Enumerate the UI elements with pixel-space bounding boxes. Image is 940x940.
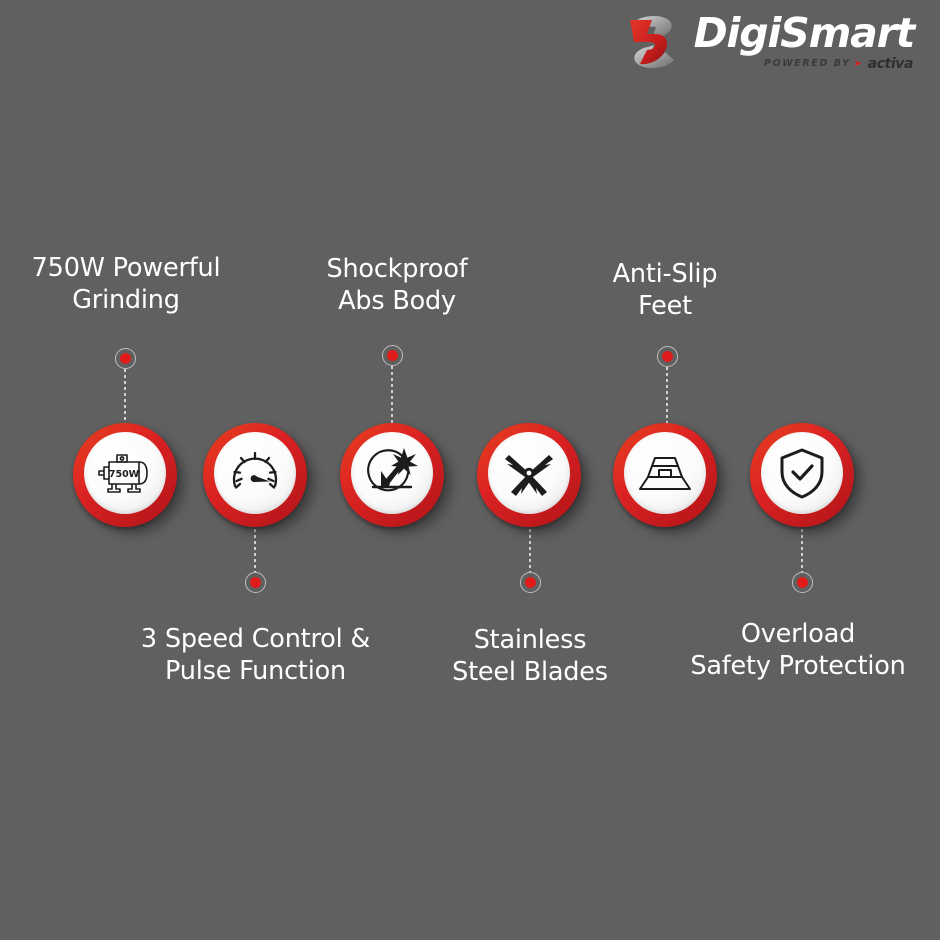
connector-dot-power: [115, 348, 136, 369]
connector-dot-shockproof: [382, 345, 403, 366]
badge-disc: [624, 432, 706, 514]
mixer-blade-icon: [501, 447, 557, 499]
electric-motor-icon: 750W: [95, 450, 155, 496]
feature-badge-blades[interactable]: [477, 423, 581, 527]
feature-label-overload: Overload Safety Protection: [667, 618, 929, 682]
logo-tagline: POWERED BY activa: [764, 57, 913, 71]
badge-disc: [214, 432, 296, 514]
anti-slip-foot-icon: [636, 452, 694, 494]
connector-dot-overload: [792, 572, 813, 593]
activa-arrow-mark: [854, 58, 865, 69]
connector-line-feet: [666, 367, 668, 426]
connector-dot-speed: [245, 572, 266, 593]
feature-label-blades: Stainless Steel Blades: [420, 624, 640, 688]
connector-dot-blades: [520, 572, 541, 593]
powered-by-text: POWERED BY: [764, 59, 851, 69]
speedometer-icon: [228, 448, 282, 498]
impact-resistant-icon: [364, 446, 420, 500]
logo-text-block: DigiSmart POWERED BY activa: [694, 13, 914, 70]
feature-badge-speed[interactable]: [203, 423, 307, 527]
feature-badge-feet[interactable]: [613, 423, 717, 527]
infographic-canvas: DigiSmart POWERED BY activa 750W Powerfu…: [0, 0, 940, 940]
feature-label-speed: 3 Speed Control & Pulse Function: [128, 623, 383, 687]
connector-line-power: [124, 369, 126, 430]
motor-power-text: 750W: [109, 469, 140, 480]
connector-dot-feet: [657, 346, 678, 367]
badge-disc: [488, 432, 570, 514]
feature-badge-shockproof[interactable]: [340, 423, 444, 527]
logo-wordmark: DigiSmart: [694, 13, 914, 53]
feature-badge-power[interactable]: 750W: [73, 423, 177, 527]
badge-disc: 750W: [84, 432, 166, 514]
connector-power: [114, 348, 136, 430]
feature-label-shockproof: Shockproof Abs Body: [287, 253, 507, 317]
connector-shockproof: [381, 345, 403, 427]
connector-feet: [656, 346, 678, 426]
partner-brand-text: activa: [868, 57, 913, 71]
shield-check-icon: [779, 447, 825, 499]
brand-logo: DigiSmart POWERED BY activa: [622, 12, 914, 72]
connector-line-shockproof: [391, 366, 393, 427]
badge-disc: [761, 432, 843, 514]
feature-label-feet: Anti-Slip Feet: [560, 258, 770, 322]
feature-badge-overload[interactable]: [750, 423, 854, 527]
feature-label-power: 750W Powerful Grinding: [0, 252, 252, 316]
digismart-s-mark: [622, 12, 684, 72]
badge-disc: [351, 432, 433, 514]
